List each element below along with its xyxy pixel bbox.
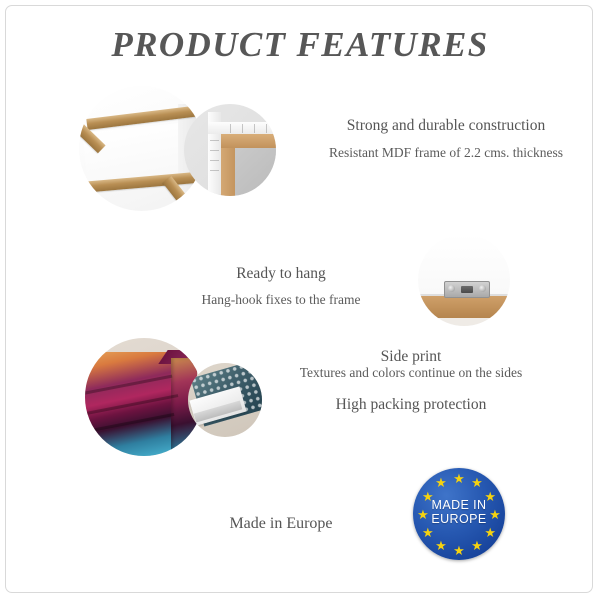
ruler-tick (230, 124, 231, 133)
feature-subtext-ready-to-hang: Hang-hook fixes to the frame (151, 292, 411, 308)
eu-made-in-europe-badge: MADE IN EUROPE ★★★★★★★★★★★★ (411, 466, 507, 562)
ruler-tick (210, 170, 219, 171)
frame-wood-edge (418, 296, 510, 318)
feature-subtext-side-print: Textures and colors continue on the side… (261, 365, 561, 381)
side-print-canvas-photo (85, 338, 203, 456)
frame-corner-cross-section-photo (184, 104, 276, 196)
eu-star-icon: ★ (484, 526, 497, 539)
hang-hook-photo (418, 234, 510, 326)
eu-star-icon: ★ (421, 526, 434, 539)
eu-star-icon: ★ (484, 490, 497, 503)
ruler-tick (242, 124, 243, 133)
eu-star-icon: ★ (435, 539, 448, 552)
wall-surface (418, 318, 510, 326)
page-title: PRODUCT FEATURES (6, 25, 593, 65)
frame-inner-panel (235, 148, 276, 196)
product-features-card: PRODUCT FEATURES Strong and durable cons… (5, 5, 593, 593)
ruler-tick (210, 140, 219, 141)
feature-heading-packing-protection: High packing protection (261, 396, 561, 414)
eu-star-icon: ★ (489, 508, 502, 521)
ruler-tick (254, 124, 255, 133)
feature-heading-ready-to-hang: Ready to hang (151, 265, 411, 283)
eu-star-icon: ★ (453, 472, 466, 485)
ruler-tick (210, 160, 219, 161)
feature-subtext-durable-construction: Resistant MDF frame of 2.2 cms. thicknes… (296, 145, 593, 161)
ruler-tick (266, 124, 267, 133)
mdf-core-horizontal (221, 134, 276, 148)
eu-star-icon: ★ (471, 476, 484, 489)
eu-star-icon: ★ (421, 490, 434, 503)
hang-hook-bracket (444, 281, 490, 298)
bubble-wrap-packing-photo (188, 363, 262, 437)
eu-star-icon: ★ (471, 539, 484, 552)
feature-heading-side-print: Side print (261, 348, 561, 366)
hang-hook-bar (461, 286, 473, 293)
eu-star-icon: ★ (453, 544, 466, 557)
ruler-tick (210, 150, 219, 151)
eu-star-icon: ★ (435, 476, 448, 489)
feature-heading-made-in-europe: Made in Europe (151, 515, 411, 533)
eu-star-icon: ★ (417, 508, 430, 521)
feature-heading-durable-construction: Strong and durable construction (296, 117, 593, 135)
